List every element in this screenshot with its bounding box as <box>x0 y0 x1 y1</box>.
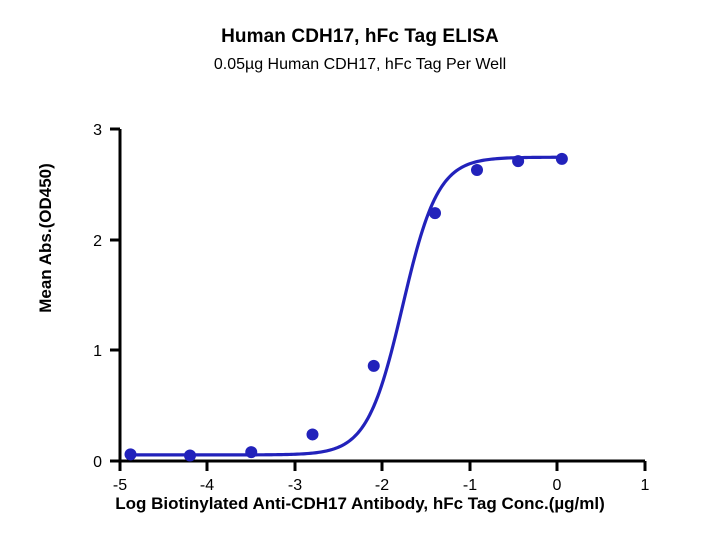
series-fit-curve <box>131 157 562 455</box>
x-tick-label: 0 <box>553 477 562 494</box>
data-point <box>556 153 568 165</box>
x-tick-label: -1 <box>463 477 477 494</box>
data-point <box>512 155 524 167</box>
chart-container: Human CDH17, hFc Tag ELISA 0.05µg Human … <box>0 0 720 545</box>
data-point <box>125 448 137 460</box>
x-tick-label: -3 <box>288 477 302 494</box>
series-data-points <box>125 153 568 462</box>
data-point <box>471 164 483 176</box>
plot-area: 0 1 2 3 -5 -4 -3 -2 -1 0 1 <box>0 0 720 545</box>
x-tick-label: -2 <box>375 477 389 494</box>
x-tick-label: -5 <box>113 477 127 494</box>
y-tick-label: 2 <box>93 233 102 250</box>
data-point <box>368 360 380 372</box>
y-tick-label: 0 <box>93 454 102 471</box>
x-tick-labels: -5 -4 -3 -2 -1 0 1 <box>113 477 650 494</box>
data-point <box>245 446 257 458</box>
data-point <box>429 207 441 219</box>
y-tick-label: 1 <box>93 343 102 360</box>
x-tick-label: -4 <box>200 477 214 494</box>
x-tick-label: 1 <box>641 477 650 494</box>
y-tick-labels: 0 1 2 3 <box>93 122 102 471</box>
data-point <box>184 449 196 461</box>
y-tick-label: 3 <box>93 122 102 139</box>
data-point <box>307 428 319 440</box>
